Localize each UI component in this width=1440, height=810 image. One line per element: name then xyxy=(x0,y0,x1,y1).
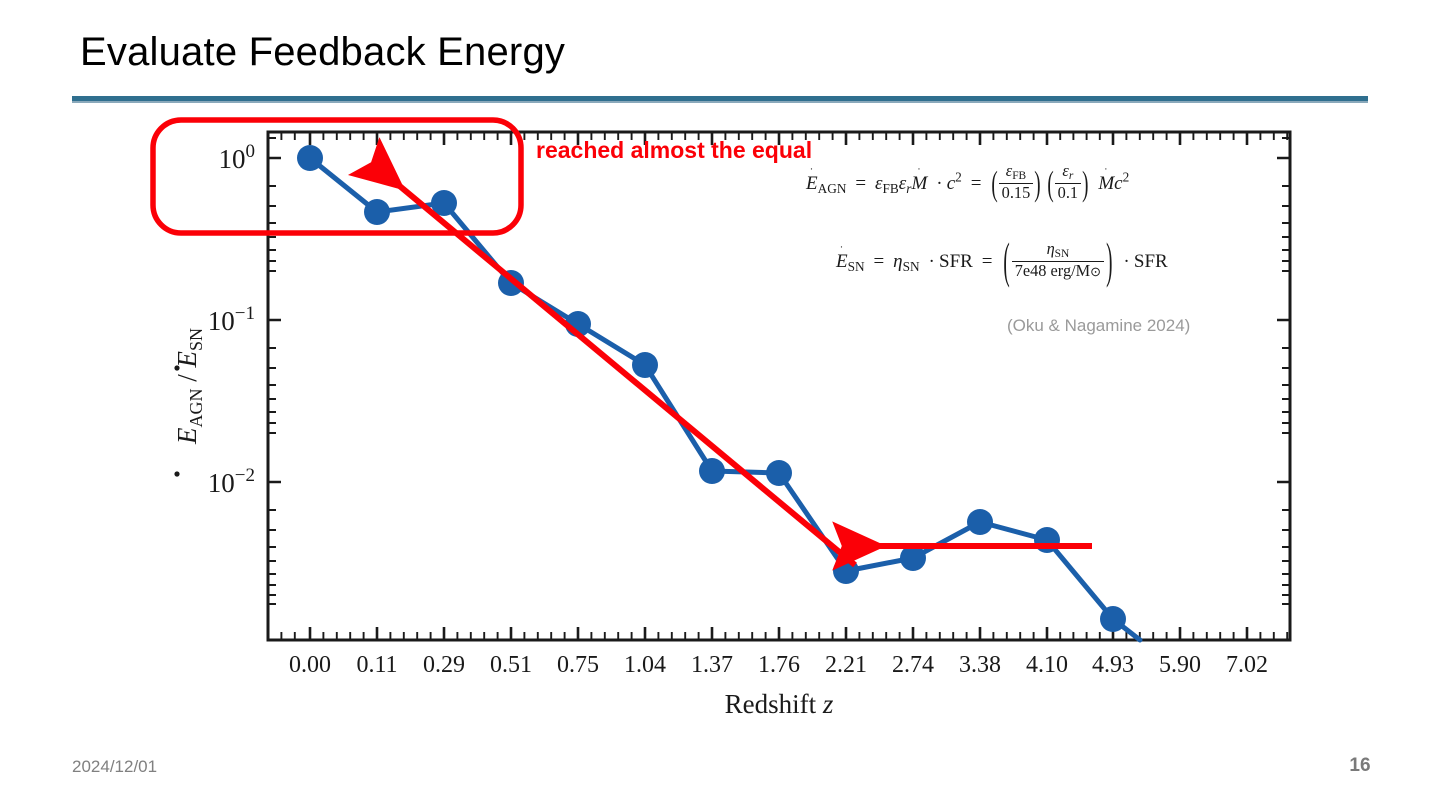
callout-annotation-text: reached almost the equal xyxy=(536,137,812,164)
data-point xyxy=(699,458,725,484)
x-tick-label: 4.93 xyxy=(1092,652,1134,678)
data-point xyxy=(1100,606,1126,632)
svg-text:100: 100 xyxy=(219,141,256,174)
trend-arrow-diagonal xyxy=(372,163,855,565)
svg-text:EAGN / ESN: EAGN / ESN xyxy=(172,328,206,445)
data-point xyxy=(1034,527,1060,553)
data-point xyxy=(297,145,323,171)
svg-text:10−2: 10−2 xyxy=(208,465,255,498)
x-tick-label: 2.21 xyxy=(825,652,867,678)
y-tick-label: 10 xyxy=(219,144,246,174)
x-tick-label: 1.37 xyxy=(691,652,733,678)
x-tick-label: 1.04 xyxy=(624,652,666,678)
x-axis-title: Redshift z xyxy=(725,689,834,719)
equation-sn: ˙ESN = ηSN ·SFR = (ηSN7e48 erg/M⊙) ·SFR xyxy=(836,240,1168,279)
x-tick-label: 0.29 xyxy=(423,652,465,678)
x-tick-label: 0.75 xyxy=(557,652,599,678)
equation-agn: ˙EAGN = εFBεr˙M ·c2 = (εFB0.15) (εr0.1) … xyxy=(806,162,1129,201)
feedback-energy-ratio-chart: 100 10−1 10−2 0.00 0.11 0.29 0.51 0.75 1… xyxy=(0,100,1440,750)
x-tick-label: 0.51 xyxy=(490,652,532,678)
footer-date: 2024/12/01 xyxy=(72,757,157,777)
figure-panel: 100 10−1 10−2 0.00 0.11 0.29 0.51 0.75 1… xyxy=(0,100,1440,750)
svg-text:10−1: 10−1 xyxy=(208,303,255,336)
data-point xyxy=(967,509,993,535)
page-title: Evaluate Feedback Energy xyxy=(80,30,565,74)
x-tick-label: 1.76 xyxy=(758,652,800,678)
y-tick-labels: 100 10−1 10−2 xyxy=(208,141,255,498)
footer-page-number: 16 xyxy=(1340,755,1380,777)
x-tick-label: 3.38 xyxy=(959,652,1001,678)
data-series-markers xyxy=(297,145,1126,632)
x-tick-label: 0.00 xyxy=(289,652,331,678)
x-tick-label: 2.74 xyxy=(892,652,934,678)
x-tick-label: 4.10 xyxy=(1026,652,1068,678)
y-tick-label: 10 xyxy=(208,468,235,498)
data-point xyxy=(364,199,390,225)
svg-text:Redshift z: Redshift z xyxy=(725,689,834,719)
data-point xyxy=(766,460,792,486)
data-point xyxy=(632,352,658,378)
x-tick-labels: 0.00 0.11 0.29 0.51 0.75 1.04 1.37 1.76 … xyxy=(289,652,1268,678)
x-tick-label: 7.02 xyxy=(1226,652,1268,678)
y-tick-label: 10 xyxy=(208,306,235,336)
y-axis-title: EAGN / ESN xyxy=(172,328,206,477)
x-tick-label: 5.90 xyxy=(1159,652,1201,678)
citation-text: (Oku & Nagamine 2024) xyxy=(1007,316,1190,336)
x-tick-label: 0.11 xyxy=(356,652,397,678)
